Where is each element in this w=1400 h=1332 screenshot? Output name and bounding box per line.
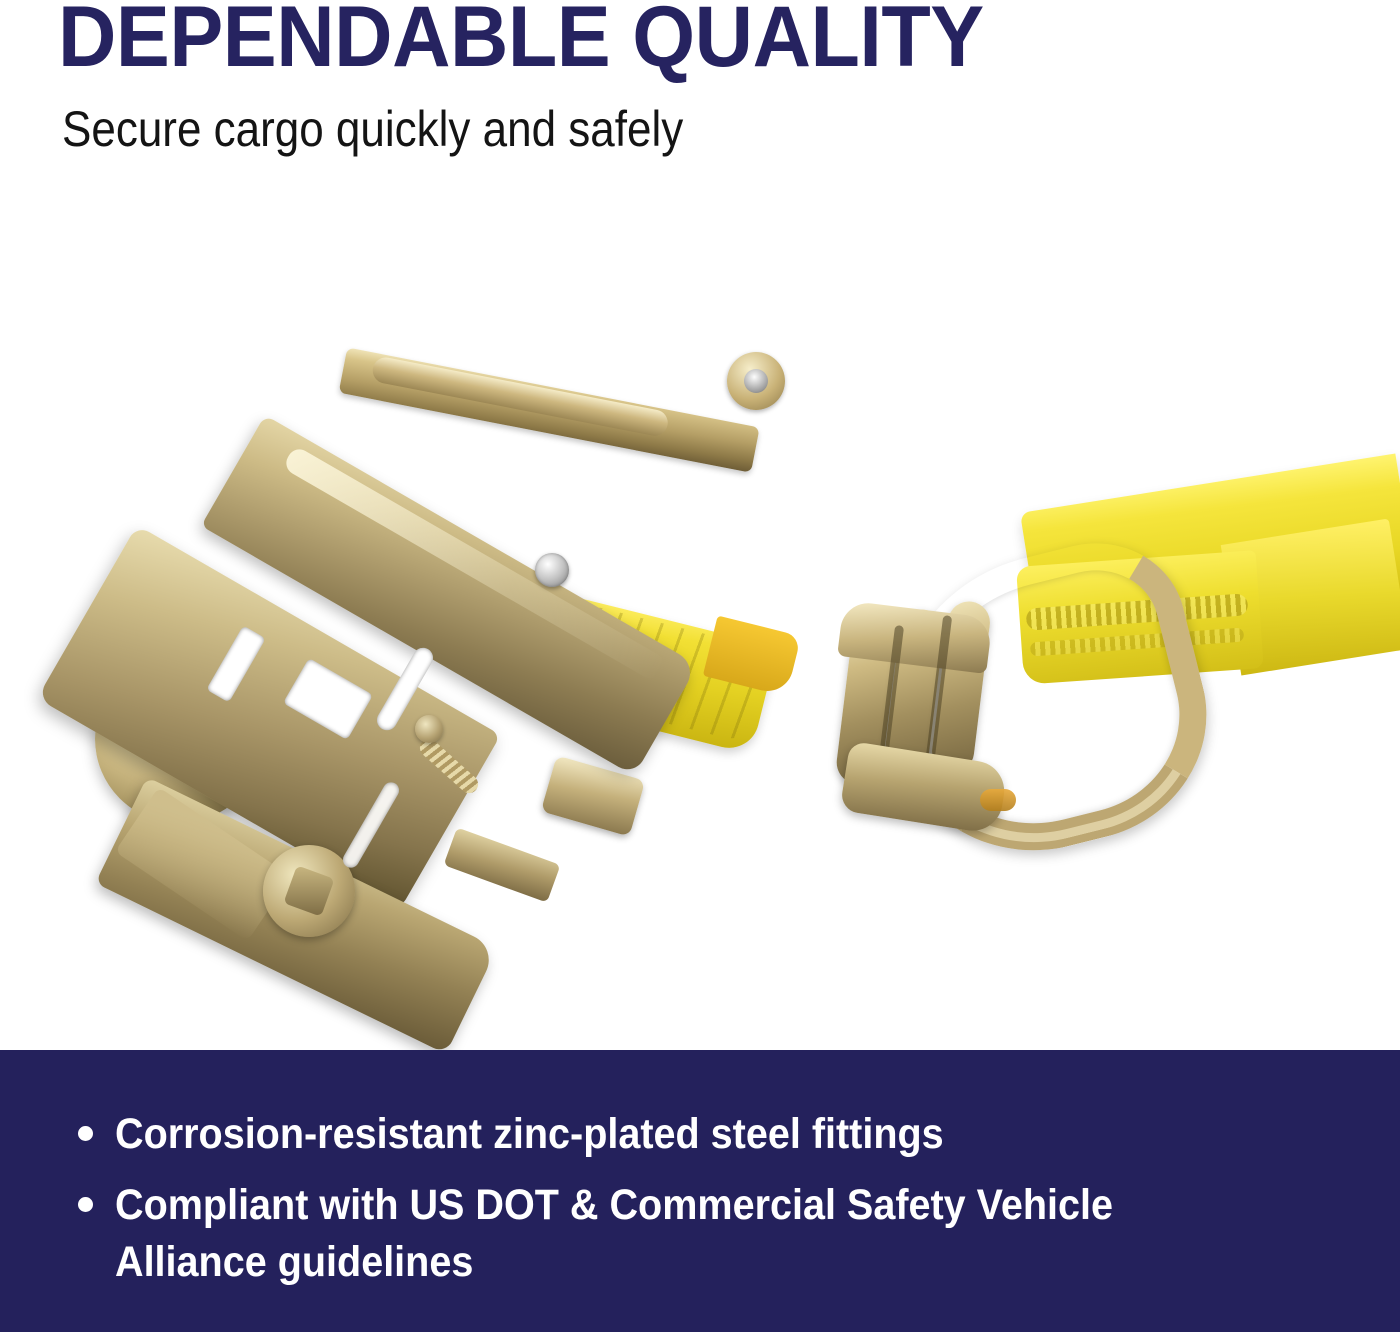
page-subtitle: Secure cargo quickly and safely xyxy=(62,104,683,154)
ratchet-steel-rivet xyxy=(535,553,569,587)
page-title: DEPENDABLE QUALITY xyxy=(58,0,984,80)
feature-bullet-text: Corrosion-resistant zinc-plated steel fi… xyxy=(115,1106,944,1163)
hook-weld-point xyxy=(980,789,1016,811)
header-section: DEPENDABLE QUALITY Secure cargo quickly … xyxy=(0,0,1400,175)
product-photo-area xyxy=(0,175,1400,1050)
double-j-hook-image xyxy=(830,505,1390,925)
bullet-dot-icon xyxy=(78,1126,93,1141)
feature-bullet-list: Corrosion-resistant zinc-plated steel fi… xyxy=(78,1106,1328,1306)
ratchet-handle-eyelet xyxy=(722,347,790,415)
ratchet-pivot-rivet xyxy=(415,715,443,743)
feature-bullet-text: Compliant with US DOT & Commercial Safet… xyxy=(115,1177,1231,1291)
feature-banner: Corrosion-resistant zinc-plated steel fi… xyxy=(0,1050,1400,1332)
ratchet-buckle-image xyxy=(95,325,815,905)
product-feature-graphic: DEPENDABLE QUALITY Secure cargo quickly … xyxy=(0,0,1400,1332)
list-item: Compliant with US DOT & Commercial Safet… xyxy=(78,1177,1328,1291)
list-item: Corrosion-resistant zinc-plated steel fi… xyxy=(78,1106,1328,1163)
ratchet-release-knob xyxy=(263,845,355,937)
ratchet-lock-tab xyxy=(443,827,560,902)
bullet-dot-icon xyxy=(78,1197,93,1212)
